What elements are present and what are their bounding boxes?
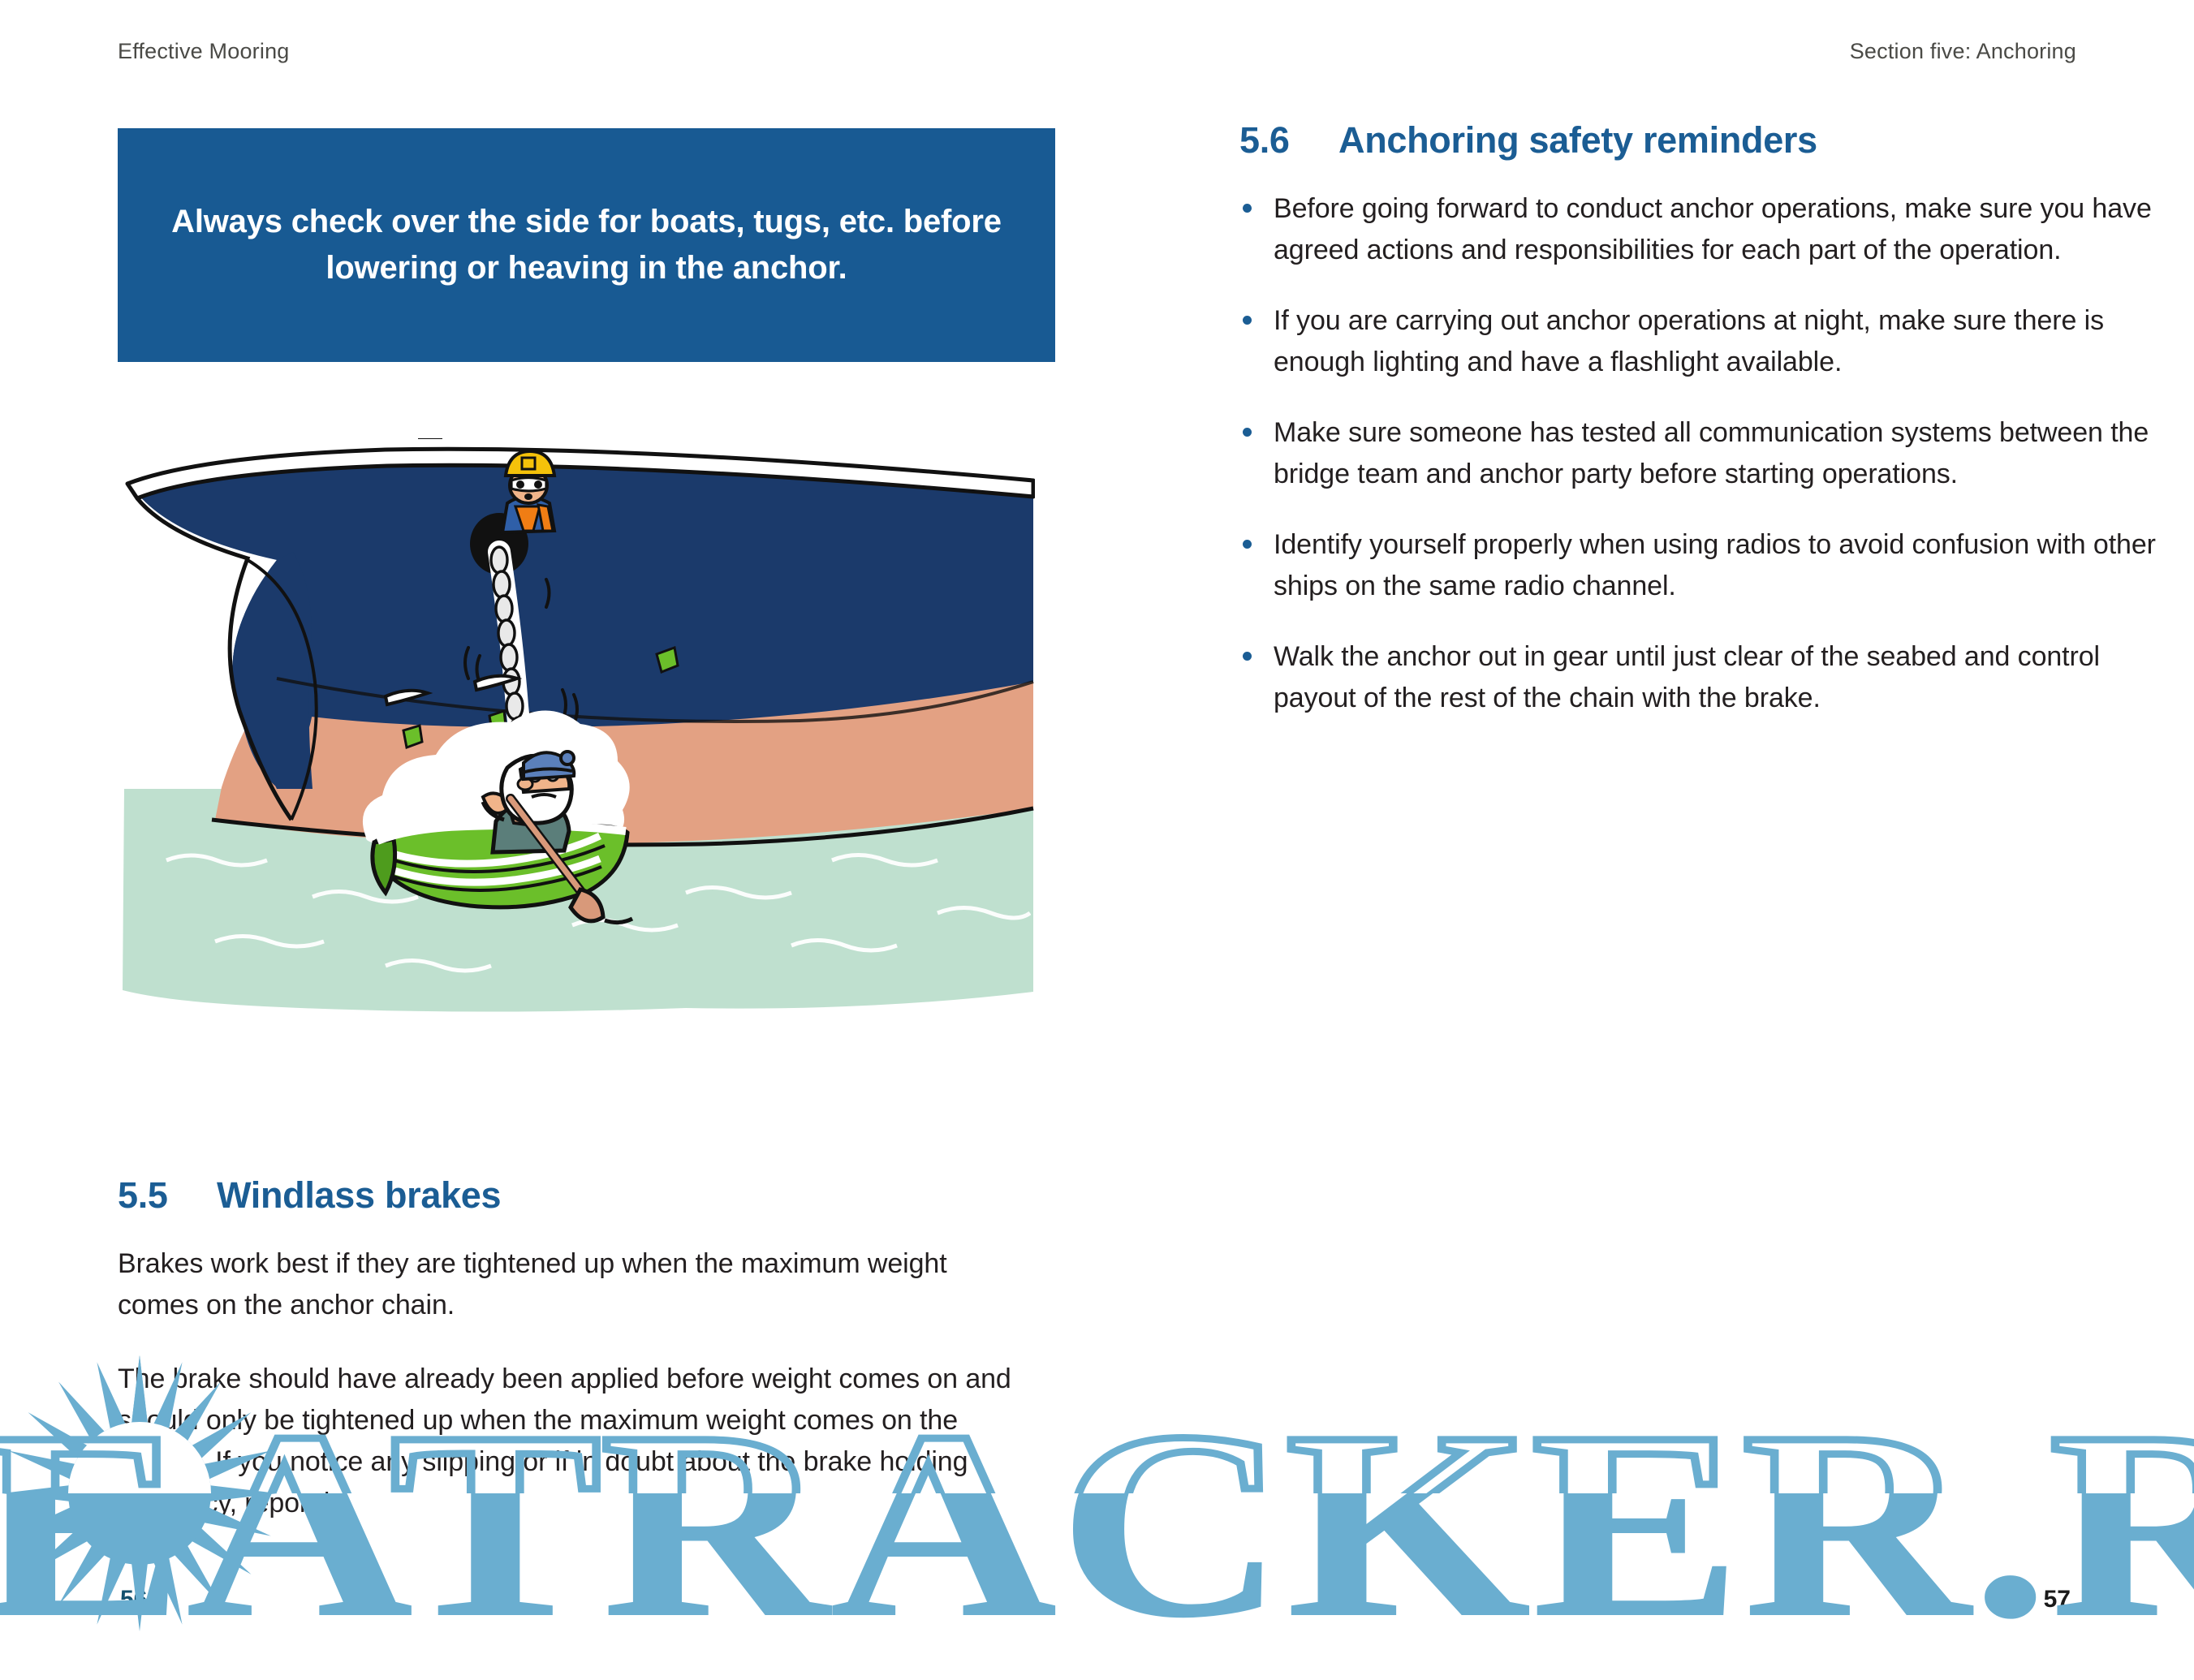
bullet-dot-icon bbox=[1243, 428, 1252, 437]
section-5-6-title: Anchoring safety reminders bbox=[1338, 120, 2173, 161]
section-5-5-title: Windlass brakes bbox=[217, 1175, 1031, 1216]
bullet-dot-icon bbox=[1243, 652, 1252, 661]
safety-callout-box: Always check over the side for boats, tu… bbox=[118, 128, 1055, 362]
list-item-text: Identify yourself properly when using ra… bbox=[1274, 529, 2156, 601]
list-item: If you are carrying out anchor operation… bbox=[1239, 300, 2173, 383]
left-page-column: Always check over the side for boats, tu… bbox=[118, 128, 1027, 362]
list-item: Identify yourself properly when using ra… bbox=[1239, 524, 2173, 607]
bullet-dot-icon bbox=[1243, 204, 1252, 213]
list-item: Walk the anchor out in gear until just c… bbox=[1239, 636, 2173, 719]
section-5-5-paragraph-1: Brakes work best if they are tightened u… bbox=[118, 1243, 1031, 1326]
section-5-6-number: 5.6 bbox=[1239, 120, 1338, 161]
list-item: Make sure someone has tested all communi… bbox=[1239, 412, 2173, 495]
bullet-dot-icon bbox=[1243, 540, 1252, 549]
running-head-left: Effective Mooring bbox=[118, 39, 290, 64]
bullet-dot-icon bbox=[1243, 316, 1252, 325]
list-item-text: Before going forward to conduct anchor o… bbox=[1274, 193, 2152, 265]
safety-callout-text: Always check over the side for boats, tu… bbox=[162, 199, 1011, 291]
anchor-lowering-illustration bbox=[118, 438, 1035, 1023]
section-5-6-heading: 5.6 Anchoring safety reminders bbox=[1239, 120, 2173, 161]
section-5-5: 5.5 Windlass brakes Brakes work best if … bbox=[118, 1175, 1031, 1557]
page-number-left: 56 bbox=[120, 1586, 147, 1613]
list-item-text: Walk the anchor out in gear until just c… bbox=[1274, 641, 2100, 713]
crewman-figure bbox=[502, 451, 554, 532]
list-item-text: If you are carrying out anchor operation… bbox=[1274, 305, 2104, 377]
right-page-column: 5.6 Anchoring safety reminders Before go… bbox=[1239, 120, 2173, 748]
page-number-right: 57 bbox=[2044, 1586, 2071, 1613]
anchoring-safety-reminders-list: Before going forward to conduct anchor o… bbox=[1239, 188, 2173, 719]
document-page-spread: Effective Mooring Section five: Anchorin… bbox=[0, 0, 2194, 1677]
running-head-right: Section five: Anchoring bbox=[1850, 39, 2076, 64]
section-5-5-number: 5.5 bbox=[118, 1175, 217, 1216]
list-item-text: Make sure someone has tested all communi… bbox=[1274, 417, 2149, 489]
list-item: Before going forward to conduct anchor o… bbox=[1239, 188, 2173, 271]
section-5-5-heading: 5.5 Windlass brakes bbox=[118, 1175, 1031, 1216]
section-5-5-paragraph-2: The brake should have already been appli… bbox=[118, 1359, 1031, 1524]
